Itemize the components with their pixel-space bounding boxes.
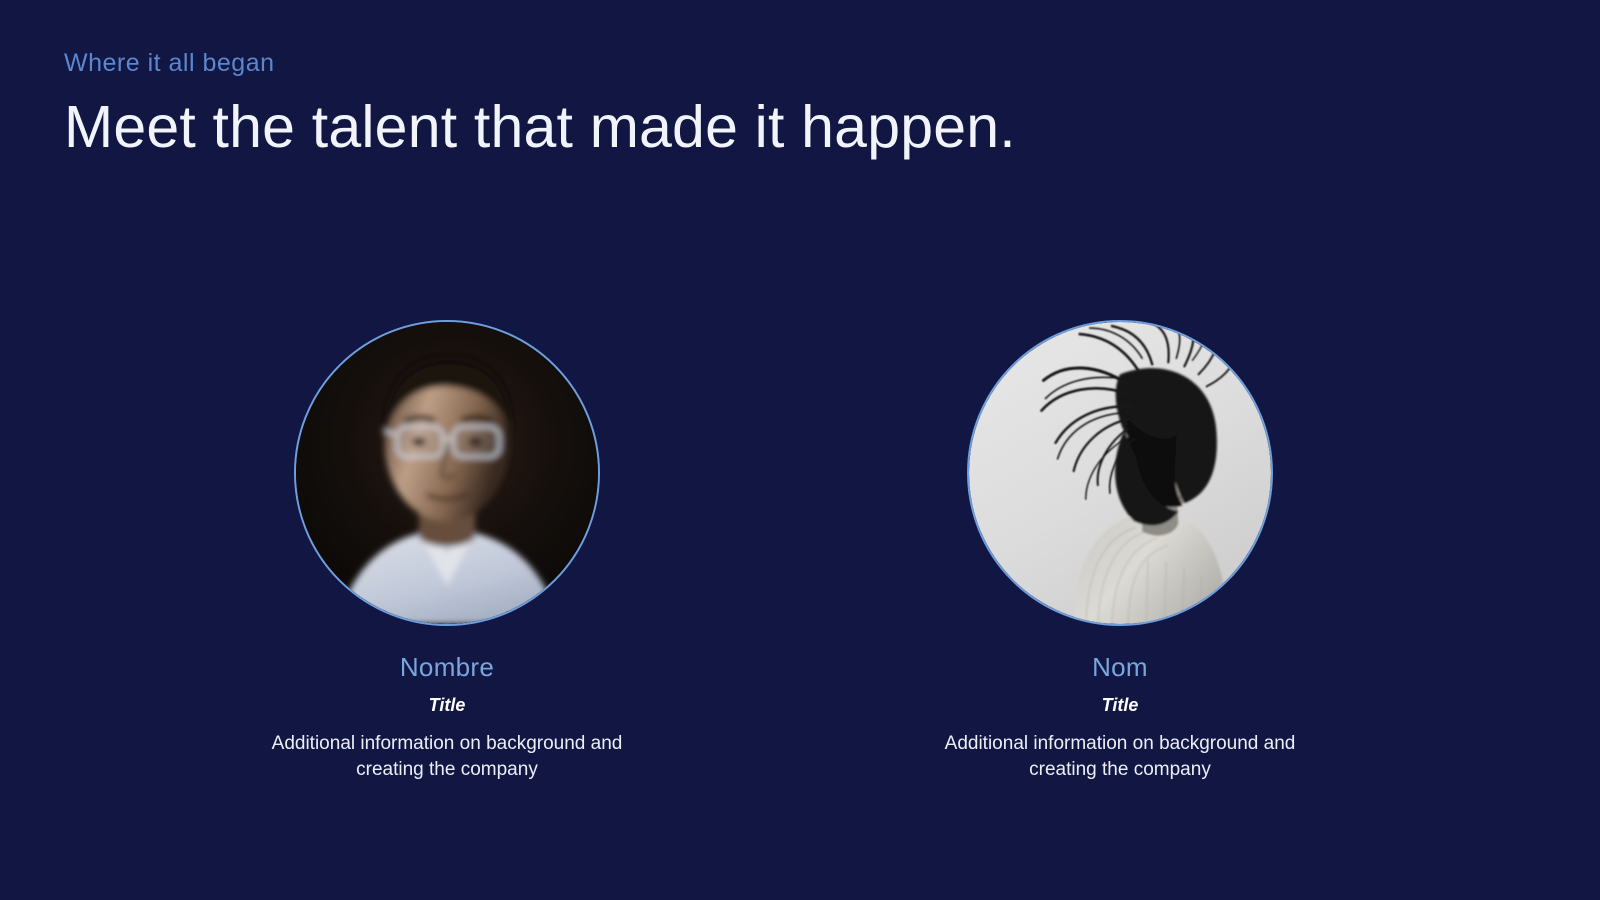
- slide-canvas: Where it all began Meet the talent that …: [0, 0, 1600, 900]
- team-member-title: Title: [429, 695, 466, 717]
- team-member-title: Title: [1102, 695, 1139, 717]
- team-member-bio: Additional information on background and…: [900, 731, 1340, 783]
- avatar: [967, 320, 1273, 626]
- slide-header: Where it all began Meet the talent that …: [64, 48, 1464, 160]
- team-member-card: Nombre Title Additional information on b…: [227, 320, 667, 783]
- page-title: Meet the talent that made it happen.: [64, 96, 1464, 160]
- avatar: [294, 320, 600, 626]
- team-member-bio: Additional information on background and…: [227, 731, 667, 783]
- team-member-card: Nom Title Additional information on back…: [900, 320, 1340, 783]
- team-member-name: Nombre: [400, 652, 494, 683]
- team-member-row: Nombre Title Additional information on b…: [0, 320, 1600, 783]
- portrait-photo-man-glasses: [296, 322, 598, 624]
- portrait-photo-woman-windblown-hair: [969, 322, 1271, 624]
- team-member-name: Nom: [1092, 652, 1148, 683]
- eyebrow-text: Where it all began: [64, 48, 1464, 78]
